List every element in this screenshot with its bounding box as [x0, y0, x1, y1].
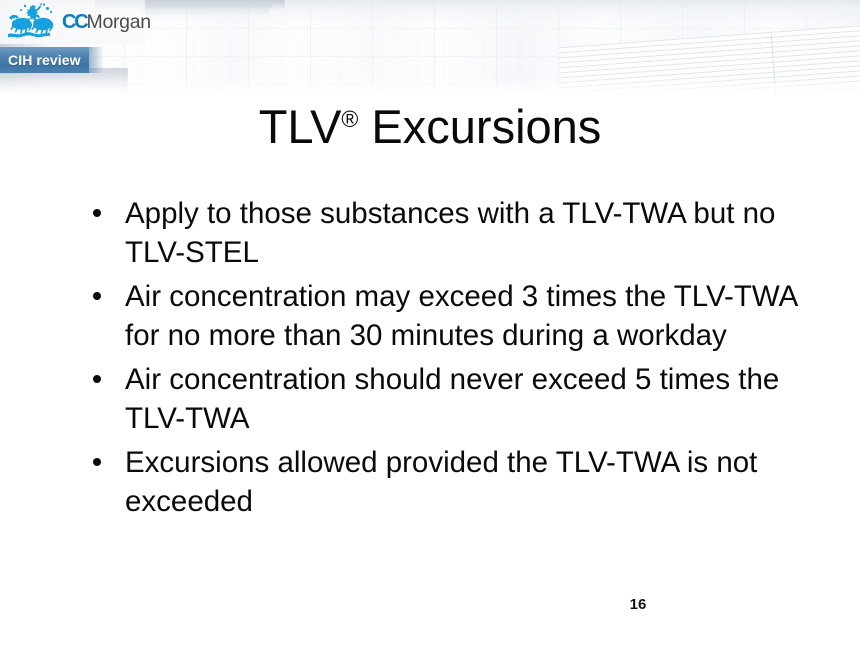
registered-trademark-icon: ®: [341, 106, 358, 132]
page-title: TLV® Excursions: [0, 90, 860, 156]
bullet-point-icon: [93, 458, 101, 466]
brand-prefix: CC: [62, 11, 87, 33]
status-badge: CIH review: [0, 47, 89, 73]
list-item: Air concentration should never exceed 5 …: [88, 361, 816, 438]
page-title-main: TLV: [259, 100, 342, 153]
header-ceiling-beam-diagonal: [136, 2, 273, 16]
brand-wordmark: CCMorgan: [62, 11, 151, 33]
logo-plate: CCMorgan: [0, 0, 145, 44]
bullet-point-icon: [93, 292, 101, 300]
brand-name: Morgan: [87, 11, 151, 33]
list-item-label: Excursions allowed provided the TLV-TWA …: [125, 444, 816, 521]
list-item-label: Air concentration should never exceed 5 …: [125, 361, 816, 438]
page-title-suffix: Excursions: [358, 100, 601, 153]
list-item: Apply to those substances with a TLV-TWA…: [88, 195, 816, 272]
presentation-slide: CCMorgan CIH review TLV® Excursions Appl…: [0, 0, 860, 650]
list-item-label: Air concentration may exceed 3 times the…: [125, 278, 816, 355]
bullet-point-icon: [93, 375, 101, 383]
bullet-point-icon: [93, 209, 101, 217]
list-item: Air concentration may exceed 3 times the…: [88, 278, 816, 355]
list-item-label: Apply to those substances with a TLV-TWA…: [125, 195, 816, 272]
slide-number: 16: [616, 596, 660, 614]
status-badge-fade: [89, 47, 103, 73]
bullet-list: Apply to those substances with a TLV-TWA…: [88, 195, 816, 521]
list-item: Excursions allowed provided the TLV-TWA …: [88, 444, 816, 521]
ccmorgan-lion-chariot-logo-icon: [6, 2, 62, 42]
